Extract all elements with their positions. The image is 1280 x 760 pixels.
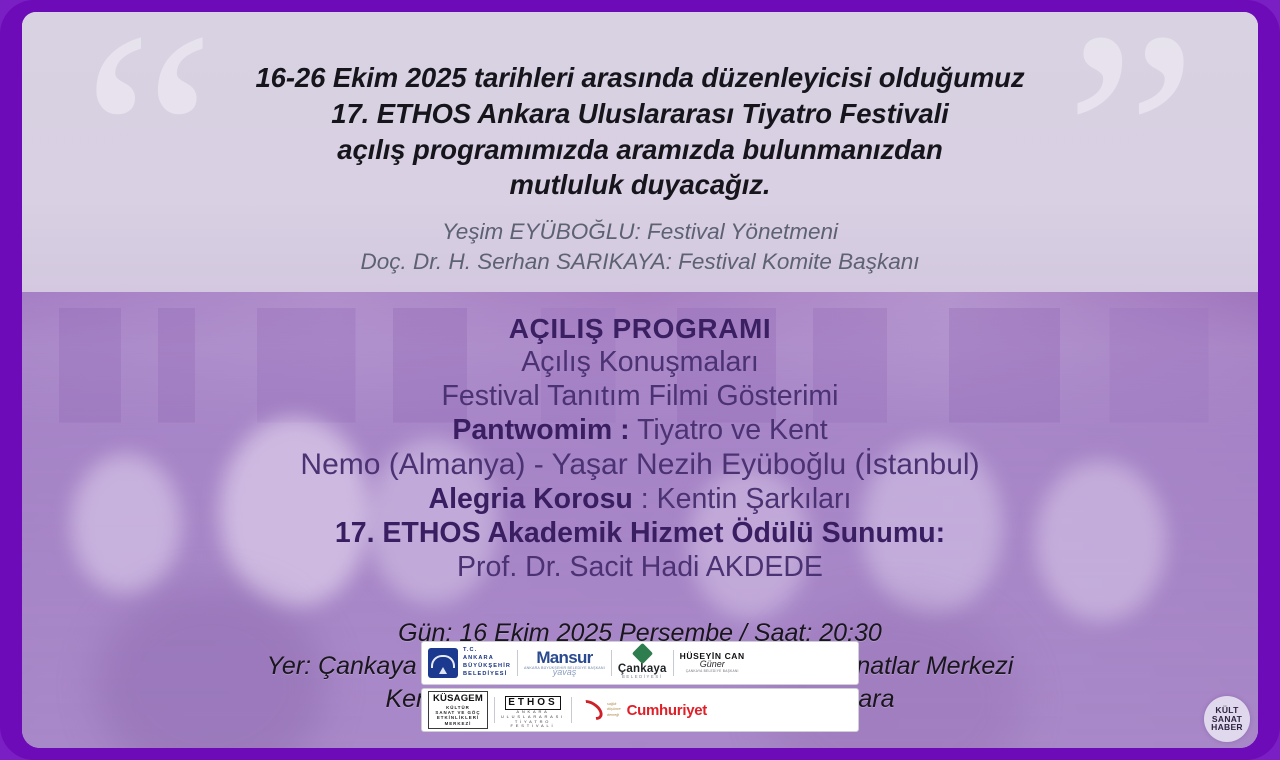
watermark-kultur-sanat-haber: KÜLT SANAT HABER <box>1204 696 1250 742</box>
headline-block: 16-26 Ekim 2025 tarihleri arasında düzen… <box>255 60 1024 203</box>
abb-line-4: BELEDİYESİ <box>463 671 511 679</box>
logo-huseyin-can: HÜSEYİN CAN Güner ÇANKAYA BELEDİYE BAŞKA… <box>680 642 745 684</box>
program-item-award-label: 17. ETHOS Akademik Hizmet Ödülü Sunumu: <box>335 517 945 549</box>
sdd-line-3: derneği <box>607 713 621 718</box>
logo-saglik-ve-dusunce-dernegi: sağlık düşünce derneği <box>578 689 621 731</box>
program-item-alegria-label: Alegria Korosu <box>429 483 633 515</box>
watermark-line-3: HABER <box>1211 723 1243 732</box>
sponsor-logos: T.C. ANKARA BÜYÜKŞEHİR BELEDİYESİ Mansur… <box>421 641 859 732</box>
abb-line-1: T.C. <box>463 647 511 655</box>
logo-divider <box>611 650 612 676</box>
sponsor-row-1: T.C. ANKARA BÜYÜKŞEHİR BELEDİYESİ Mansur… <box>421 641 859 685</box>
abb-line-3: BÜYÜKŞEHİR <box>463 663 511 671</box>
headline-line-3: açılış programımızda aramızda bulunmanız… <box>255 132 1024 168</box>
sponsor-row-2: KÜSAGEM KÜLTÜR SANAT VE GÖÇ ETKİNLİKLERİ… <box>421 688 859 732</box>
logo-ankara-buyuksehir-belediyesi: T.C. ANKARA BÜYÜKŞEHİR BELEDİYESİ <box>428 642 511 684</box>
ethos-name: ETHOS <box>505 696 560 710</box>
program-item-promo-film: Festival Tanıtım Filmi Gösterimi <box>300 380 979 414</box>
kusagem-name: KÜSAGEM <box>433 694 483 705</box>
logo-cumhuriyet: Cumhuriyet <box>627 689 707 731</box>
credit-committee-chair: Doç. Dr. H. Serhan SARIKAYA: Festival Ko… <box>361 247 920 277</box>
headline-line-4: mutluluk duyacağız. <box>255 167 1024 203</box>
logo-mansur-yavas: Mansur ANKARA BÜYÜKŞEHİR BELEDİYE BAŞKAN… <box>524 642 605 684</box>
logo-divider <box>673 650 674 676</box>
poster-frame: “ ” 16-26 Ekim 2025 tarihleri arasında d… <box>0 0 1280 760</box>
sdd-line-2: düşünce <box>607 707 621 712</box>
cumhuriyet-name: Cumhuriyet <box>627 702 707 719</box>
program-item-alegria-text: : Kentin Şarkıları <box>633 483 852 515</box>
logo-divider <box>494 697 495 723</box>
program-item-pantwomim: Pantwomim : Tiyatro ve Kent <box>300 414 979 448</box>
program-item-opening-speeches: Açılış Konuşmaları <box>300 346 979 380</box>
mansur-name: Mansur <box>524 649 605 666</box>
cankaya-leaf-icon <box>632 643 653 664</box>
program-block: AÇILIŞ PROGRAMI Açılış Konuşmaları Festi… <box>300 312 979 584</box>
program-item-award-recipient: Prof. Dr. Sacit Hadi AKDEDE <box>300 551 979 585</box>
kusagem-sub-4: MERKEZİ <box>433 721 483 726</box>
sdd-swoosh-icon <box>576 696 606 724</box>
credits-block: Yeşim EYÜBOĞLU: Festival Yönetmeni Doç. … <box>361 217 920 276</box>
huseyin-can-subtitle: ÇANKAYA BELEDİYE BAŞKANI <box>680 670 745 674</box>
headline-line-1: 16-26 Ekim 2025 tarihleri arasında düzen… <box>255 60 1024 96</box>
program-item-pantwomim-text: Tiyatro ve Kent <box>630 414 828 446</box>
program-item-performers: Nemo (Almanya) - Yaşar Nezih Eyüboğlu (İ… <box>300 447 979 483</box>
logo-ethos-ankara: ETHOS ANKARA ULUSLARARASI TİYATRO FESTİV… <box>501 689 565 731</box>
cankaya-subtitle: BELEDİYESİ <box>618 675 667 679</box>
logo-divider <box>571 697 572 723</box>
logo-cankaya-belediyesi: Çankaya BELEDİYESİ <box>618 642 667 684</box>
program-item-pantwomim-label: Pantwomim : <box>452 414 629 446</box>
kusagem-sub-3: ETKİNLİKLERİ <box>433 715 483 720</box>
logo-kusagem: KÜSAGEM KÜLTÜR SANAT VE GÖÇ ETKİNLİKLERİ… <box>428 689 488 731</box>
headline-line-2: 17. ETHOS Ankara Uluslararası Tiyatro Fe… <box>255 96 1024 132</box>
poster-canvas: “ ” 16-26 Ekim 2025 tarihleri arasında d… <box>22 12 1258 748</box>
ethos-sub-4: FESTİVALİ <box>501 724 565 729</box>
logo-divider <box>517 650 518 676</box>
credit-festival-director: Yeşim EYÜBOĞLU: Festival Yönetmeni <box>361 217 920 247</box>
program-item-award: 17. ETHOS Akademik Hizmet Ödülü Sunumu: <box>300 517 979 551</box>
abb-line-2: ANKARA <box>463 655 511 663</box>
ankara-seal-icon <box>428 648 458 678</box>
poster-content: 16-26 Ekim 2025 tarihleri arasında düzen… <box>22 12 1258 748</box>
program-item-alegria-korosu: Alegria Korosu : Kentin Şarkıları <box>300 483 979 517</box>
program-title: AÇILIŞ PROGRAMI <box>300 312 979 345</box>
